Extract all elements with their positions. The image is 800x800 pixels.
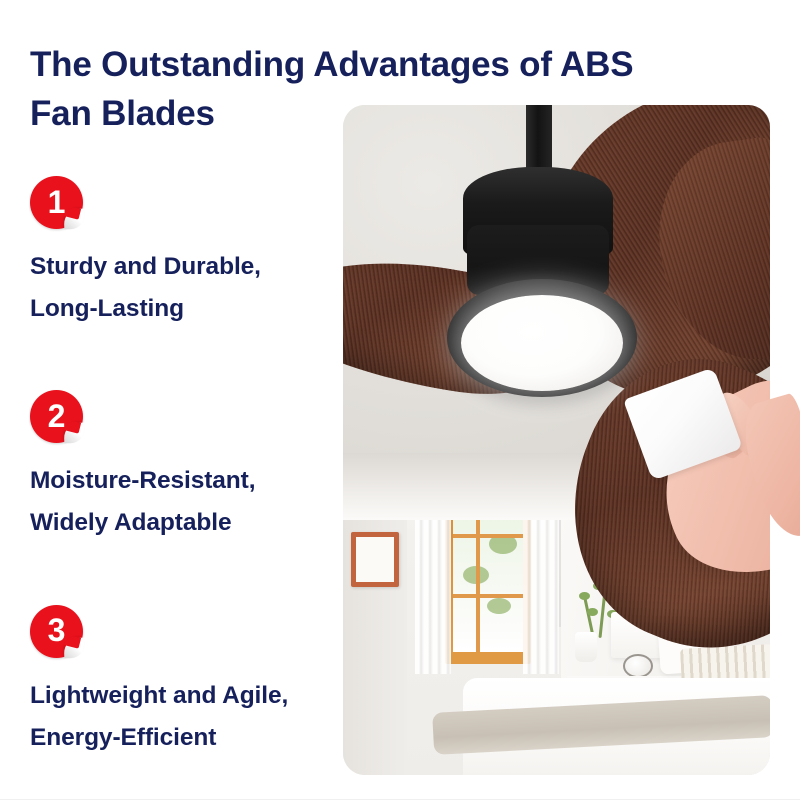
number-badge-3: 3: [30, 605, 83, 658]
framed-picture-icon: [351, 532, 399, 587]
feature-text: Lightweight and Agile, Energy-Efficient: [30, 675, 335, 759]
photo-clip: [343, 105, 770, 775]
feature-item: 1 Sturdy and Durable, Long-Lasting: [30, 176, 335, 330]
window-mullion: [453, 594, 523, 598]
number-badge-2: 2: [30, 390, 83, 443]
infographic-root: The Outstanding Advantages of ABS Fan Bl…: [0, 0, 800, 799]
fan-light-lens: [461, 295, 623, 391]
feature-text: Sturdy and Durable, Long-Lasting: [30, 246, 335, 330]
window-mullion: [453, 534, 523, 538]
vase: [575, 632, 597, 662]
feature-item: 2 Moisture-Resistant, Widely Adaptable: [30, 390, 335, 544]
fan-downrod: [526, 105, 552, 173]
number-badge-1: 1: [30, 176, 83, 229]
badge-number: 1: [30, 176, 83, 229]
badge-number: 3: [30, 605, 83, 658]
feature-text: Moisture-Resistant, Widely Adaptable: [30, 460, 335, 544]
product-photo: [343, 105, 770, 775]
feature-list: 1 Sturdy and Durable, Long-Lasting 2 Moi…: [30, 176, 335, 759]
badge-number: 2: [30, 390, 83, 443]
feature-item: 3 Lightweight and Agile, Energy-Efficien…: [30, 605, 335, 759]
